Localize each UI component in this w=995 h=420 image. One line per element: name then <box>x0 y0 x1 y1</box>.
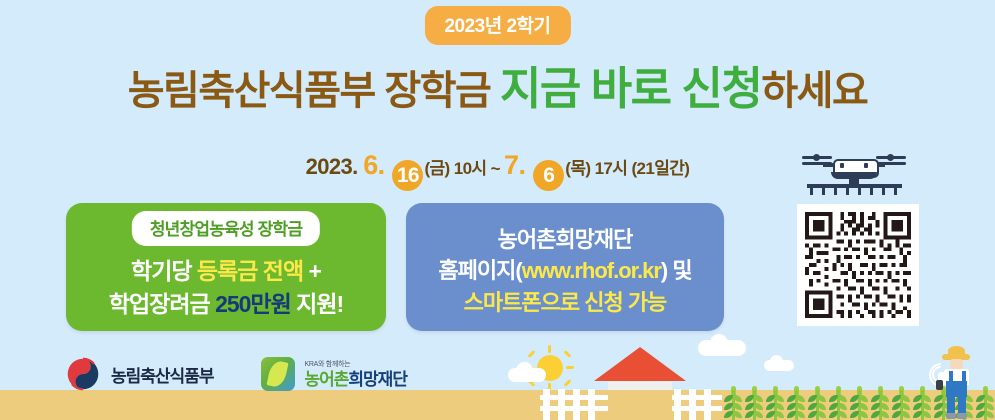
channel-lines: 농어촌희망재단 홈페이지(www.rhof.or.kr) 및 스마트폰으로 신청… <box>406 224 724 318</box>
benefit-line2-a: 학업장려금 <box>109 291 215 317</box>
date-year: 2023. <box>306 154 364 179</box>
crop-plant <box>806 386 828 420</box>
crop-plant <box>848 386 870 420</box>
foundation-tagline: KRA와 함께하는 <box>304 361 406 368</box>
title-part-apply-now: 지금 바로 신청 <box>500 63 761 114</box>
channel-homepage-suffix: ) 및 <box>661 258 692 283</box>
crop-plant <box>785 386 807 420</box>
scholarship-banner: 2023년 2학기 농림축산식품부 장학금 지금 바로 신청하세요 2023. … <box>0 0 995 420</box>
foundation-logo: KRA와 함께하는 농어촌희망재단 <box>261 357 406 391</box>
crop-plant <box>974 386 995 420</box>
ministry-logo: 농림축산식품부 <box>66 357 213 391</box>
title-part-suffix: 하세요 <box>761 69 867 113</box>
scholarship-benefit-card: 청년창업농육성 장학금 학기당 등록금 전액 + 학업장려금 250만원 지원! <box>66 203 386 331</box>
foundation-name-part2: 희망재단 <box>348 370 407 389</box>
channel-url[interactable]: www.rhof.or.kr <box>522 258 661 283</box>
taegeuk-icon <box>66 357 100 391</box>
page-title: 농림축산식품부 장학금 지금 바로 신청하세요 <box>0 66 995 111</box>
channel-homepage-prefix: 홈페이지( <box>438 258 521 283</box>
date-start-day: 16 <box>392 160 423 191</box>
semester-badge: 2023년 2학기 <box>424 6 570 45</box>
qr-code[interactable] <box>797 204 919 326</box>
date-end-day: 6 <box>533 160 564 191</box>
crop-plant <box>911 386 933 420</box>
benefit-lines: 학기당 등록금 전액 + 학업장려금 250만원 지원! <box>66 255 386 320</box>
date-start-suffix: (금) 10시 ~ <box>424 159 504 178</box>
crop-plant <box>869 386 891 420</box>
crop-plant <box>722 386 744 420</box>
benefit-line2-c: 지원! <box>291 291 343 317</box>
date-end-month: 7. <box>504 150 532 180</box>
leaf-icon <box>261 357 295 391</box>
benefit-line-1: 학기당 등록금 전액 + <box>66 255 386 288</box>
benefit-line1-c: + <box>303 258 321 284</box>
benefit-line1-a: 학기당 <box>131 258 197 284</box>
crop-plant <box>890 386 912 420</box>
title-part-ministry: 농림축산식품부 장학금 <box>128 69 500 113</box>
crop-plant <box>743 386 765 420</box>
channel-line-3: 스마트폰으로 신청 가능 <box>406 287 724 318</box>
foundation-name-part1: 농어촌 <box>304 370 348 389</box>
application-period: 2023. 6. 16(금) 10시 ~ 7. 6(목) 17시 (21일간) <box>0 150 995 191</box>
date-end-suffix: (목) 17시 (21일간) <box>565 159 689 178</box>
ministry-logo-text: 농림축산식품부 <box>111 362 213 387</box>
crop-plant <box>764 386 786 420</box>
foundation-logo-text: 농어촌희망재단 <box>304 371 406 388</box>
scholarship-program-label: 청년창업농육성 장학금 <box>132 211 320 246</box>
channel-line-1: 농어촌희망재단 <box>406 224 724 255</box>
application-channel-card: 농어촌희망재단 홈페이지(www.rhof.or.kr) 및 스마트폰으로 신청… <box>406 203 724 331</box>
date-start-month: 6. <box>363 150 391 180</box>
crop-plant <box>827 386 849 420</box>
logo-row: 농림축산식품부 KRA와 함께하는 농어촌희망재단 <box>66 352 407 396</box>
channel-line-2: 홈페이지(www.rhof.or.kr) 및 <box>406 255 724 286</box>
benefit-line2-amount: 250만원 <box>215 291 291 317</box>
benefit-line1-highlight: 등록금 전액 <box>197 258 303 284</box>
benefit-line-2: 학업장려금 250만원 지원! <box>66 288 386 321</box>
